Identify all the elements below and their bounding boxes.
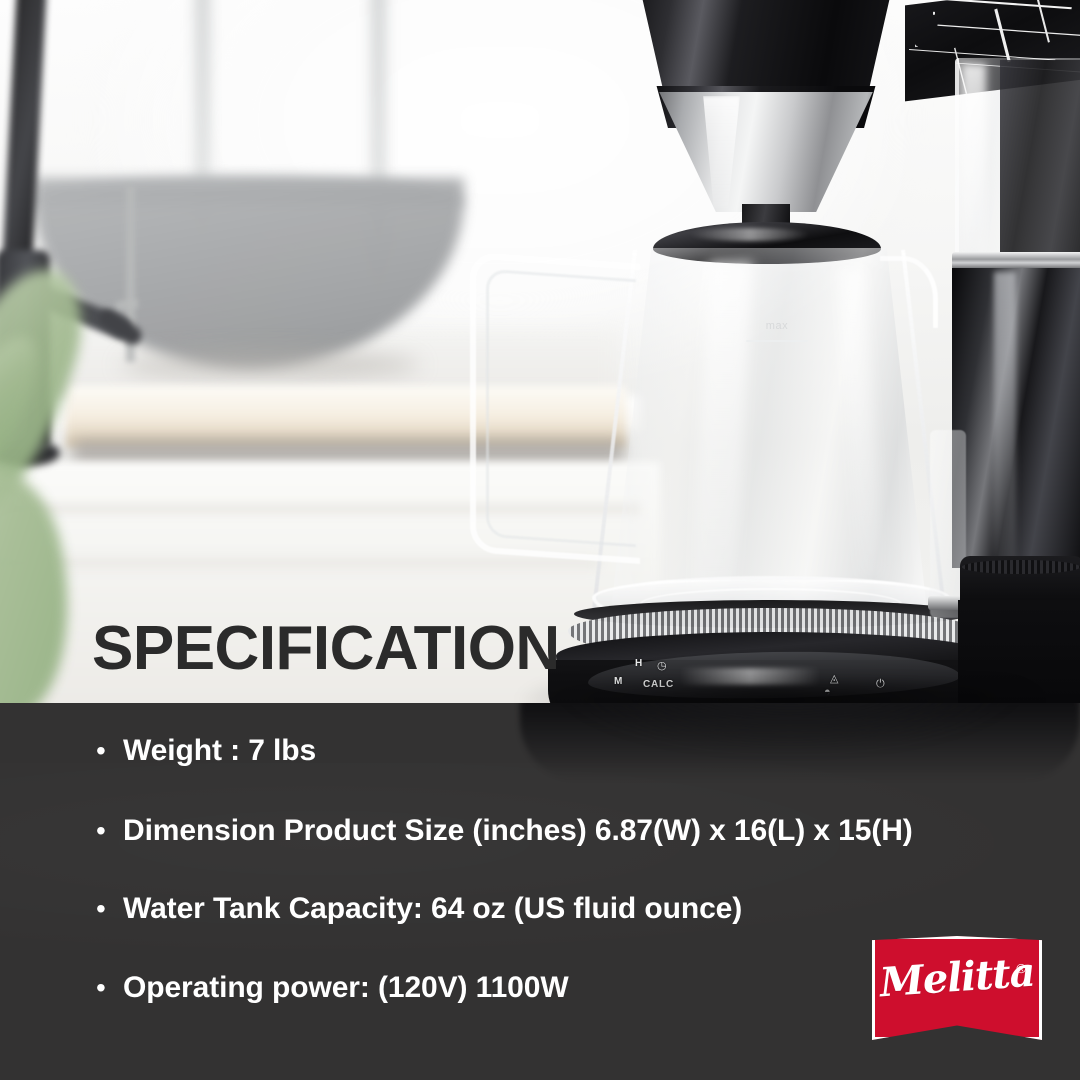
product-photo: max H M CALC ◷ ◬ ◓ ⏻	[0, 0, 1080, 720]
registered-trademark-icon: ®	[1016, 962, 1026, 975]
bullet-icon: •	[96, 974, 123, 1002]
machine-base-bleed-glow	[560, 703, 1020, 753]
spec-water-tank: Water Tank Capacity: 64 oz (US fluid oun…	[123, 894, 742, 924]
water-tank-body	[952, 268, 1080, 568]
panel-sheen	[0, 763, 1080, 963]
list-item: • Dimension Product Size (inches) 6.87(W…	[96, 816, 913, 846]
page-title: SPECIFICATION	[92, 618, 560, 680]
water-tank-highlight	[994, 272, 1016, 564]
list-item: • Weight : 7 lbs	[96, 736, 316, 766]
clock-icon[interactable]: ◷	[657, 659, 667, 672]
carafe-max-line	[746, 340, 808, 342]
water-tank-reflection	[962, 64, 986, 254]
brew-funnel-top	[627, 0, 905, 90]
carafe-max-label: max	[742, 320, 812, 332]
bullet-icon: •	[96, 737, 123, 765]
carafe-lid-highlight	[690, 228, 810, 241]
carafe-spout	[880, 256, 938, 328]
bullet-icon: •	[96, 895, 123, 923]
coffee-maker: max H M CALC ◷ ◬ ◓ ⏻	[0, 0, 1080, 720]
carafe-handle-inner	[486, 269, 636, 547]
hour-button-label[interactable]: H	[635, 658, 643, 669]
water-tank-interior	[1000, 60, 1080, 256]
melitta-logo: Melitta ®	[872, 936, 1042, 1040]
spec-weight: Weight : 7 lbs	[123, 736, 316, 766]
water-tank-foot-ring	[962, 560, 1080, 574]
spec-power: Operating power: (120V) 1100W	[123, 973, 569, 1003]
list-item: • Operating power: (120V) 1100W	[96, 973, 569, 1003]
logo-wordmark: Melitta	[871, 952, 1043, 1004]
stainless-brew-cone	[657, 92, 875, 212]
bullet-icon: •	[96, 817, 123, 845]
list-item: • Water Tank Capacity: 64 oz (US fluid o…	[96, 894, 742, 924]
spec-dimensions: Dimension Product Size (inches) 6.87(W) …	[123, 816, 913, 846]
specification-card: max H M CALC ◷ ◬ ◓ ⏻	[0, 0, 1080, 1080]
